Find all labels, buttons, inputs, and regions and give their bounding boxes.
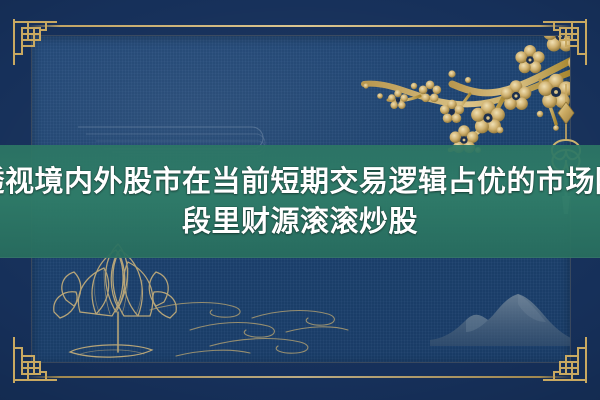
- gold-horizontal-rule-bottom: [28, 376, 572, 378]
- meander-corner-ornament-top-left: [6, 14, 62, 70]
- title-line-1: 透视境内外股市在当前短期交易逻辑占优的市场阶: [0, 162, 600, 202]
- gold-horizontal-rule-top: [28, 25, 572, 27]
- meander-corner-ornament-top-right: [538, 14, 594, 70]
- meander-corner-ornament-bottom-left: [6, 332, 62, 388]
- meander-corner-ornament-bottom-right: [538, 332, 594, 388]
- poster-canvas: 透视境内外股市在当前短期交易逻辑占优的市场阶 段里财源滚滚炒股: [0, 0, 600, 400]
- title-banner: 透视境内外股市在当前短期交易逻辑占优的市场阶 段里财源滚滚炒股: [0, 145, 600, 258]
- title-line-2: 段里财源滚滚炒股: [182, 202, 418, 242]
